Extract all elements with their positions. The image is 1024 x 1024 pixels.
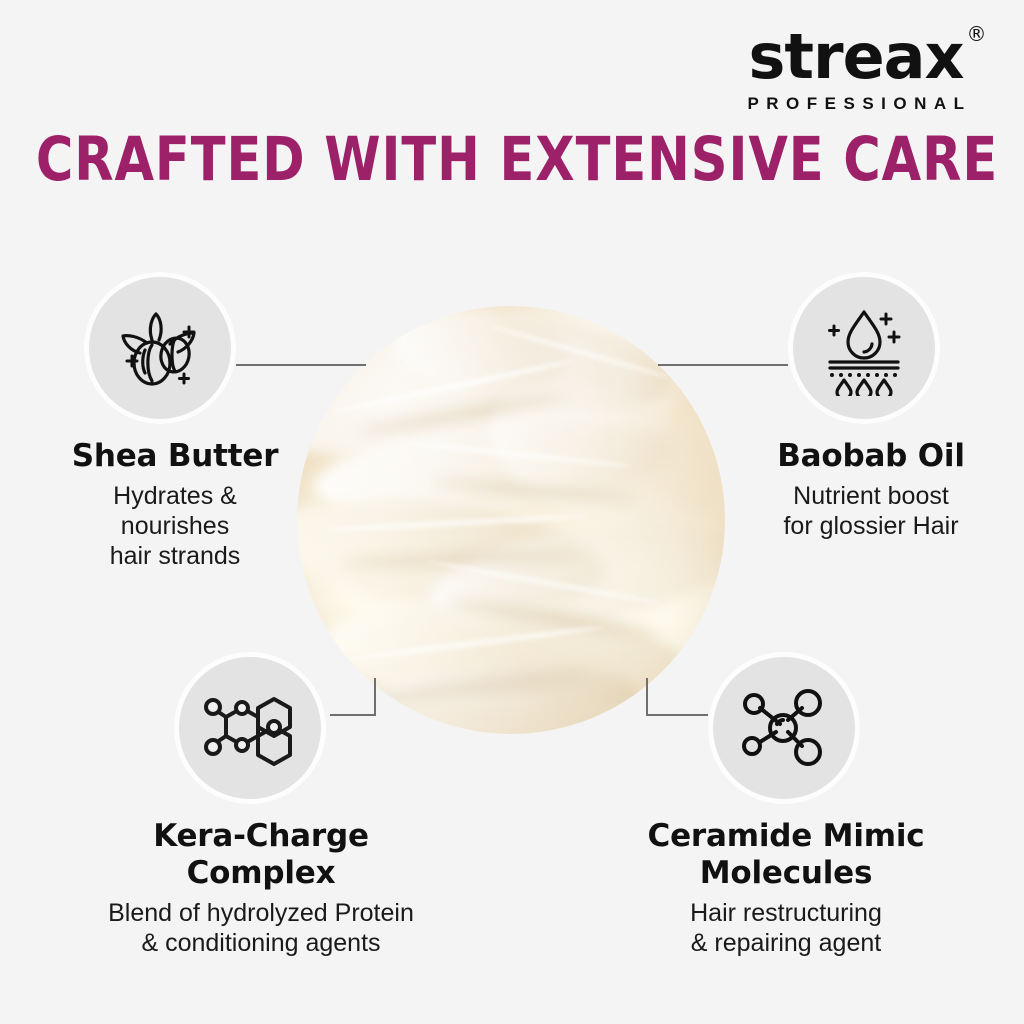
ingredient-title: Baobab Oil [726, 438, 1016, 475]
description-line: Nutrient boost [726, 481, 1016, 511]
node-molecule-glyph [736, 680, 832, 776]
description-line: Blend of hydrolyzed Protein [36, 898, 486, 928]
registered-trademark-icon: ® [967, 24, 986, 44]
cream-texture-fill [297, 306, 725, 734]
description-line: & repairing agent [576, 928, 996, 958]
description-line: Hair restructuring [576, 898, 996, 928]
connector-line-ceramide-horizontal [646, 714, 708, 716]
connector-line-kera-charge-vertical [374, 678, 376, 716]
description-line: & conditioning agents [36, 928, 486, 958]
brand-logo: streax ® PROFESSIONAL [726, 26, 986, 114]
title-line: Complex [36, 855, 486, 892]
molecule-node-icon [708, 652, 860, 804]
description-line: Hydrates & [30, 481, 320, 511]
connector-line-kera-charge-horizontal [330, 714, 376, 716]
ingredient-title: Kera-Charge Complex [36, 818, 486, 892]
ingredient-ceramide-mimic-molecules: Ceramide Mimic Molecules Hair restructur… [576, 818, 996, 958]
shea-nut-glyph [112, 300, 208, 396]
hexagon-molecule-glyph [202, 680, 298, 776]
cream-texture-image [297, 306, 725, 734]
oil-droplet-absorption-icon [788, 272, 940, 424]
ingredient-baobab-oil: Baobab Oil Nutrient boost for glossier H… [726, 438, 1016, 541]
title-line: Molecules [576, 855, 996, 892]
oil-droplet-glyph [816, 300, 912, 396]
description-line: hair strands [30, 541, 320, 571]
connector-line-baobab-oil [658, 364, 788, 366]
infographic-canvas: streax ® PROFESSIONAL CRAFTED WITH EXTEN… [0, 0, 1024, 1024]
connector-line-ceramide-vertical [646, 678, 648, 716]
brand-wordmark-text: streax [749, 20, 964, 93]
description-line: nourishes [30, 511, 320, 541]
ingredient-title: Shea Butter [30, 438, 320, 475]
ingredient-description: Hydrates & nourishes hair strands [30, 481, 320, 571]
ingredient-description: Nutrient boost for glossier Hair [726, 481, 1016, 541]
ingredient-shea-butter: Shea Butter Hydrates & nourishes hair st… [30, 438, 320, 571]
title-line: Ceramide Mimic [576, 818, 996, 855]
ingredient-description: Blend of hydrolyzed Protein & conditioni… [36, 898, 486, 958]
description-line: for glossier Hair [726, 511, 1016, 541]
ingredient-title: Ceramide Mimic Molecules [576, 818, 996, 892]
molecule-hexagon-icon [174, 652, 326, 804]
title-line: Kera-Charge [36, 818, 486, 855]
brand-tagline: PROFESSIONAL [726, 94, 986, 114]
brand-wordmark: streax ® [749, 26, 964, 88]
connector-line-shea-butter [236, 364, 366, 366]
ingredient-description: Hair restructuring & repairing agent [576, 898, 996, 958]
page-title: CRAFTED WITH EXTENSIVE CARE [36, 128, 988, 192]
shea-nut-icon [84, 272, 236, 424]
ingredient-kera-charge-complex: Kera-Charge Complex Blend of hydrolyzed … [36, 818, 486, 958]
